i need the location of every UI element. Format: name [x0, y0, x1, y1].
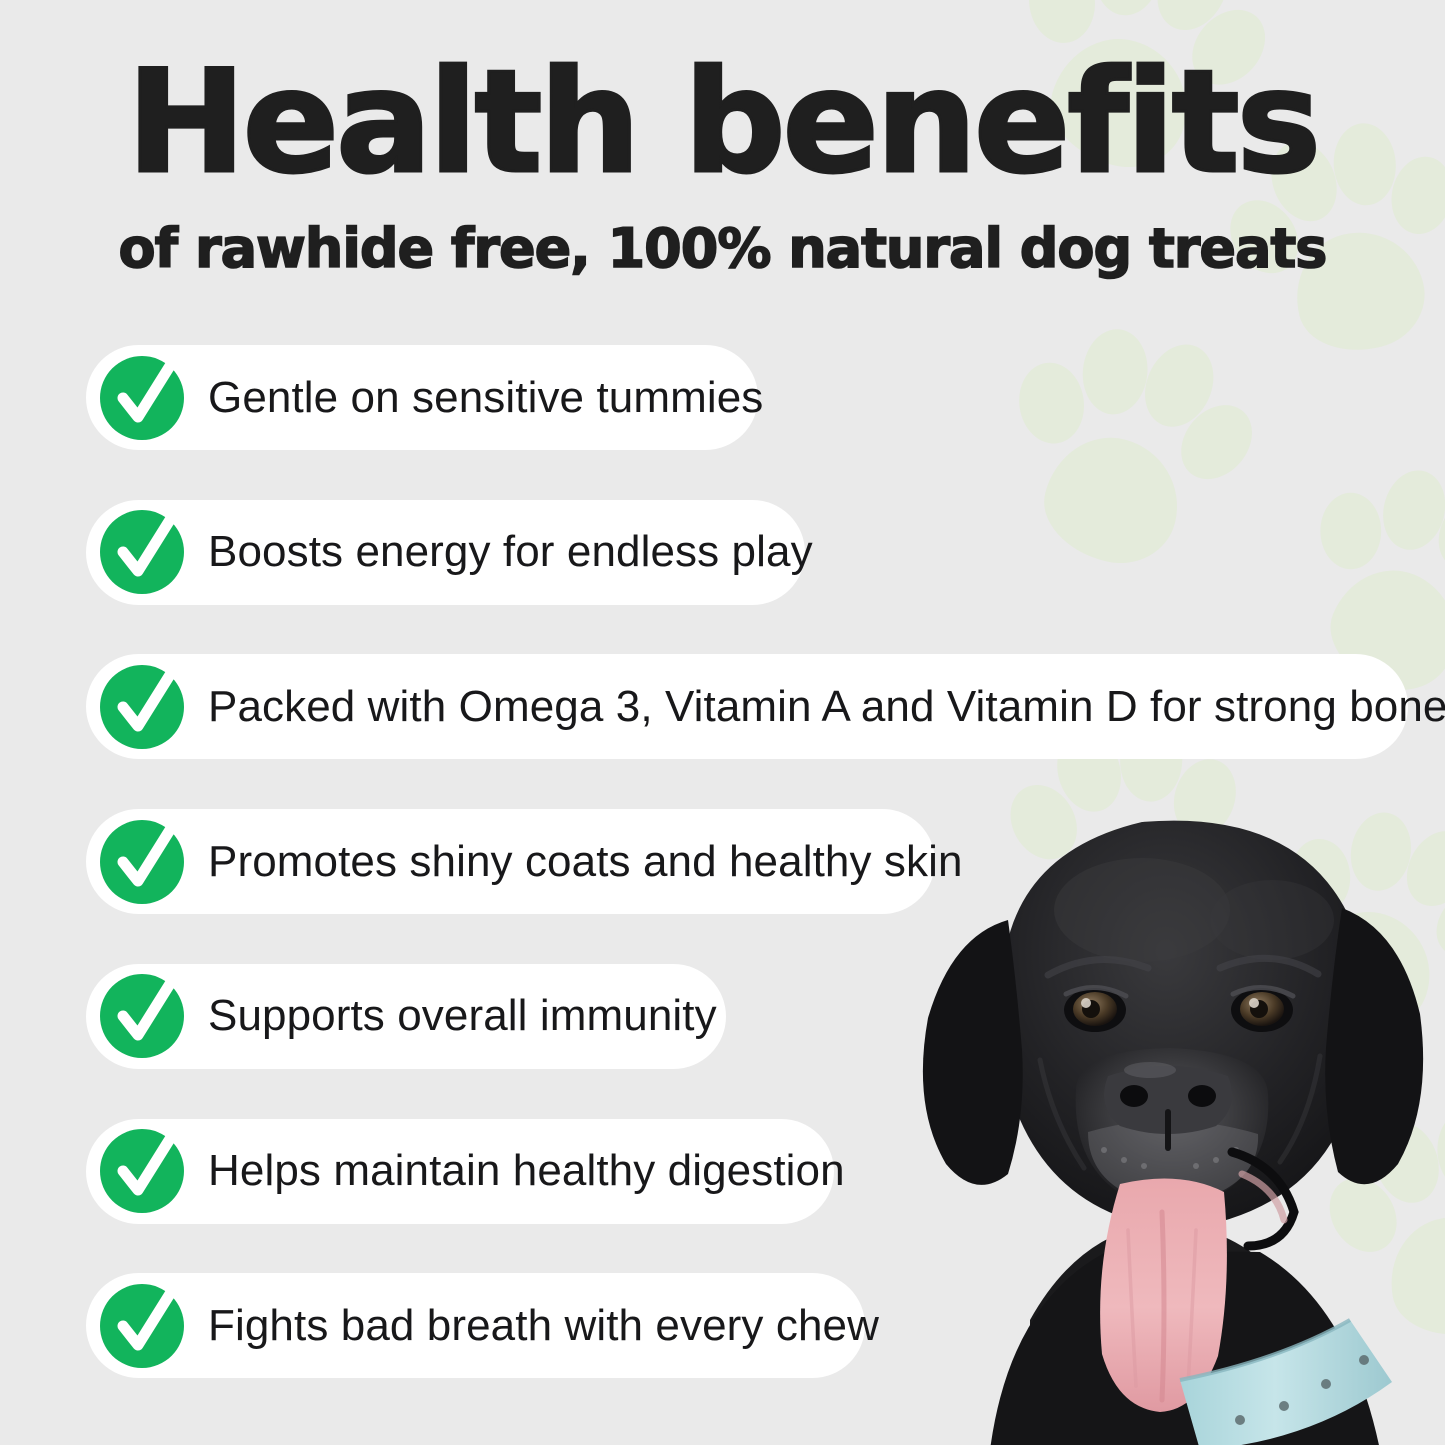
check-icon [100, 820, 184, 904]
benefit-pill-shiny-coats: Promotes shiny coats and healthy skin [86, 809, 935, 914]
benefit-pill-overall-immunity: Supports overall immunity [86, 964, 726, 1069]
page-title: Health benefits [0, 52, 1445, 194]
benefit-label: Packed with Omega 3, Vitamin A and Vitam… [208, 682, 1445, 732]
benefit-pill-omega-vitamins: Packed with Omega 3, Vitamin A and Vitam… [86, 654, 1408, 759]
benefit-label: Boosts energy for endless play [208, 527, 813, 577]
benefit-pill-healthy-digestion: Helps maintain healthy digestion [86, 1119, 834, 1224]
paw-print-icon [977, 302, 1269, 602]
check-icon [100, 974, 184, 1058]
benefit-pill-fights-bad-breath: Fights bad breath with every chew [86, 1273, 865, 1378]
check-icon [100, 665, 184, 749]
benefit-label: Fights bad breath with every chew [208, 1301, 879, 1351]
benefit-label: Helps maintain healthy digestion [208, 1146, 845, 1196]
check-icon [100, 1284, 184, 1368]
benefit-pill-sensitive-tummies: Gentle on sensitive tummies [86, 345, 758, 450]
benefit-label: Promotes shiny coats and healthy skin [208, 837, 963, 887]
benefit-pill-boosts-energy: Boosts energy for endless play [86, 500, 805, 605]
benefit-label: Gentle on sensitive tummies [208, 373, 763, 423]
page-subtitle: of rawhide free, 100% natural dog treats [0, 222, 1445, 276]
benefit-label: Supports overall immunity [208, 991, 717, 1041]
check-icon [100, 510, 184, 594]
dog-photo [880, 760, 1445, 1445]
check-icon [100, 356, 184, 440]
check-icon [100, 1129, 184, 1213]
health-benefits-infographic: Health benefits of rawhide free, 100% na… [0, 0, 1445, 1445]
